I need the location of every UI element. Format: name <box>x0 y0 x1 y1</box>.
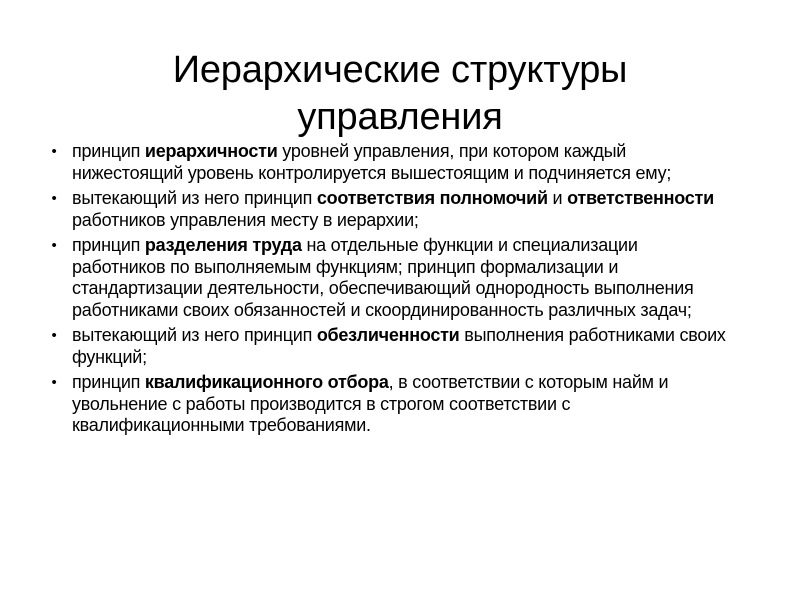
bullet-text-run: вытекающий из него принцип <box>72 188 317 208</box>
bullet-text: принцип иерархичности уровней управления… <box>72 141 730 184</box>
slide: Иерархические структуры управления •прин… <box>0 0 800 600</box>
bullet-emphasis-term: соответствия полномочий <box>317 188 548 208</box>
bullet-dot-icon: • <box>47 141 61 163</box>
bullet-text-run: и <box>548 188 567 208</box>
bullet-dot-icon: • <box>47 235 61 257</box>
bullet-emphasis-term: квалификационного отбора <box>145 372 389 392</box>
bullet-impersonality-principle: •вытекающий из него принцип обезличеннос… <box>40 325 730 368</box>
bullet-text-run: принцип <box>72 235 145 255</box>
bullet-qualification-selection-principle: •принцип квалификационного отбора, в соо… <box>40 372 730 437</box>
bullet-emphasis-term: иерархичности <box>145 141 278 161</box>
page-title: Иерархические структуры управления <box>90 47 710 141</box>
bullet-text-run: работников управления месту в иерархии; <box>72 210 419 230</box>
bullet-dot-icon: • <box>47 372 61 394</box>
bullet-authority-responsibility-principle: •вытекающий из него принцип соответствия… <box>40 188 730 231</box>
bullet-dot-icon: • <box>47 325 61 347</box>
bullet-division-of-labour-principle: •принцип разделения труда на отдельные ф… <box>40 235 730 321</box>
bullet-emphasis-term: обезличенности <box>317 325 460 345</box>
bullet-dot-icon: • <box>47 188 61 210</box>
bullet-hierarchy-principle: •принцип иерархичности уровней управлени… <box>40 141 730 184</box>
bullet-text: принцип разделения труда на отдельные фу… <box>72 235 730 321</box>
bullet-emphasis-term: разделения труда <box>145 235 302 255</box>
bullet-text: вытекающий из него принцип соответствия … <box>72 188 730 231</box>
bullet-emphasis-term: ответственности <box>567 188 714 208</box>
bullet-text-run: принцип <box>72 372 145 392</box>
bullet-text-run: вытекающий из него принцип <box>72 325 317 345</box>
bullet-text: принцип квалификационного отбора, в соот… <box>72 372 730 437</box>
principles-bullet-list: •принцип иерархичности уровней управлени… <box>40 141 730 437</box>
bullet-text-run: принцип <box>72 141 145 161</box>
bullet-text: вытекающий из него принцип обезличенност… <box>72 325 730 368</box>
